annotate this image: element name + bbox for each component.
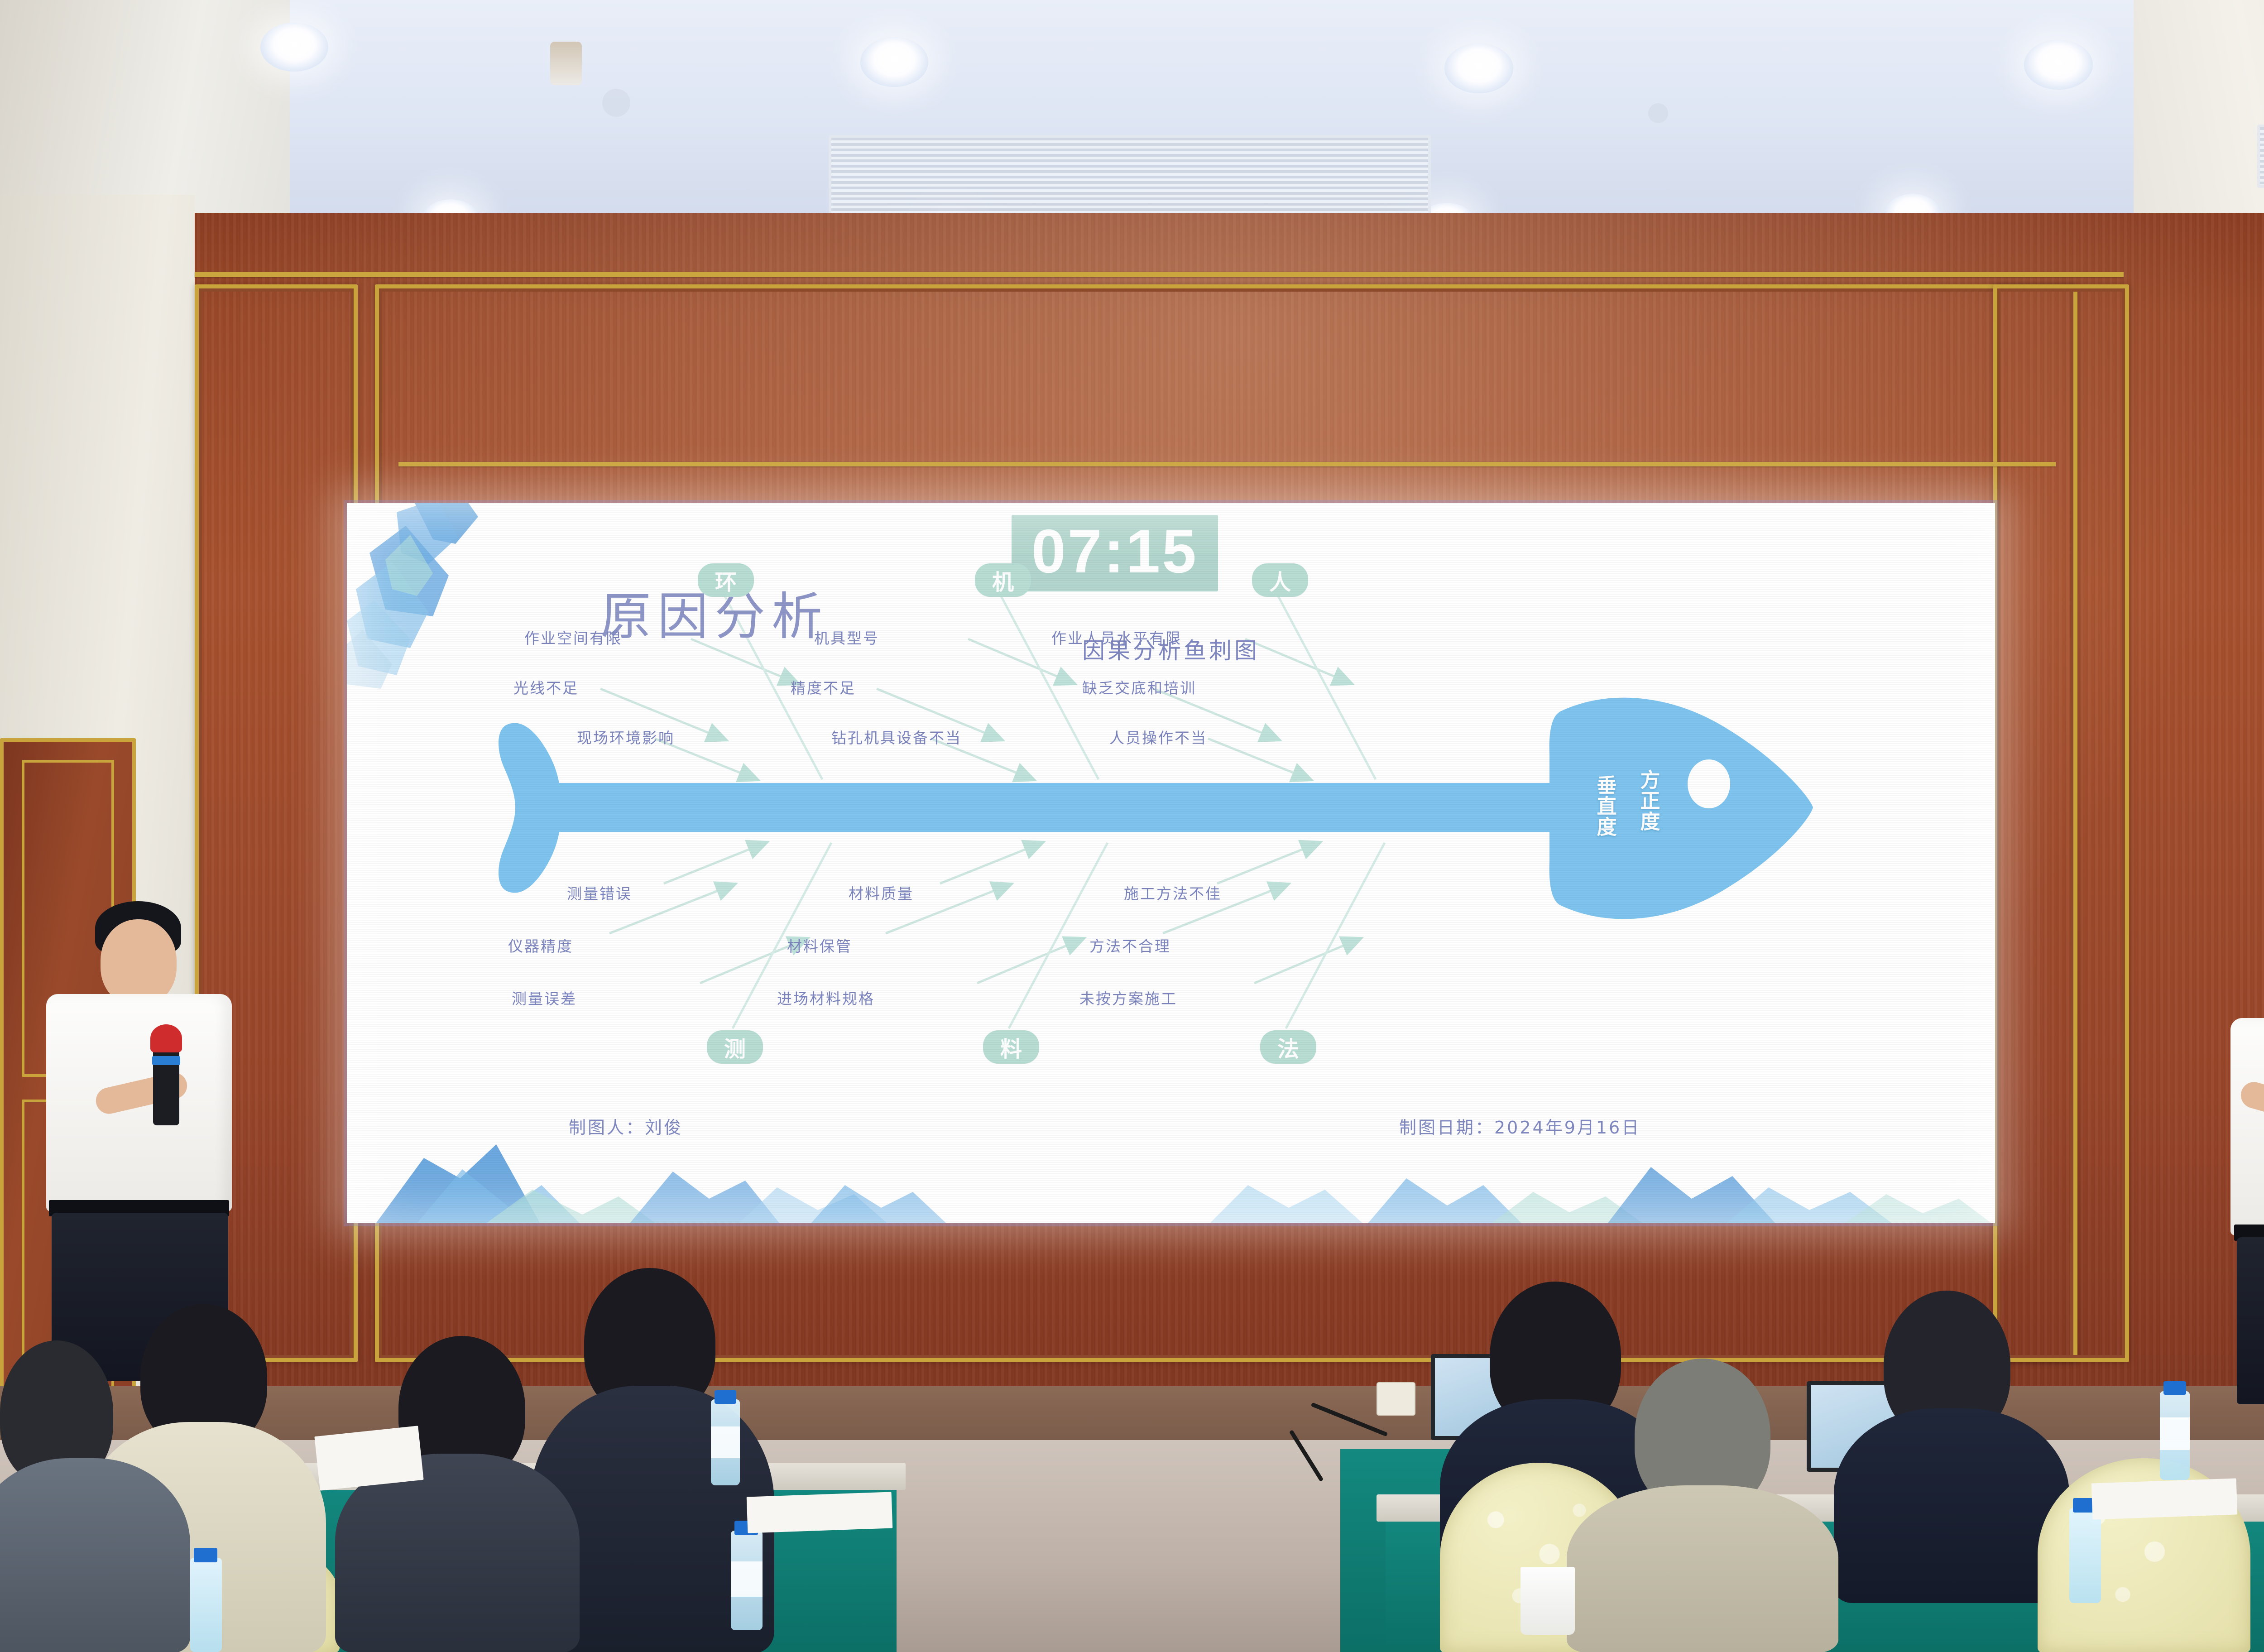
presenter-right [2214, 924, 2264, 1404]
gold-wall-frame [1993, 284, 2129, 1362]
bottle-cap [2163, 1381, 2186, 1395]
audience-body [0, 1458, 190, 1652]
effect-word-squareness: 方正度 [1637, 769, 1659, 832]
document-sheet[interactable] [2091, 1478, 2238, 1519]
downlight-icon [2024, 40, 2093, 90]
bottle-label [731, 1561, 763, 1597]
bottle-cap [194, 1548, 217, 1562]
cause-label: 人员操作不当 [1109, 726, 1207, 748]
category-pill-liao[interactable]: 料 [983, 1030, 1039, 1064]
category-label: 测 [724, 1031, 746, 1063]
cause-label: 方法不合理 [1089, 934, 1171, 956]
audience-body [1567, 1485, 1838, 1652]
wall-socket [1377, 1382, 1415, 1416]
cause-label: 作业人员水平有限 [1051, 626, 1182, 648]
ceiling-speaker-icon [602, 89, 630, 117]
slide-canvas: 原因分析 07:15 因果分析鱼刺图 [347, 503, 1995, 1223]
countdown-timer[interactable]: 07:15 [1012, 515, 1218, 591]
microphone-head-icon [150, 1024, 182, 1052]
ceiling-vent [2257, 125, 2264, 188]
microphone-band [152, 1056, 180, 1065]
bottle-label [711, 1426, 740, 1458]
cause-label: 现场环境影响 [577, 726, 675, 748]
cause-label: 钻孔机具设备不当 [831, 726, 962, 748]
category-pill-huan[interactable]: 环 [698, 563, 754, 597]
water-bottle[interactable] [190, 1558, 222, 1652]
bottle-cap [715, 1390, 736, 1404]
conference-room-photo: 原因分析 07:15 因果分析鱼刺图 [0, 0, 2264, 1652]
cause-label: 进场材料规格 [777, 987, 875, 1008]
cause-label: 光线不足 [513, 676, 579, 698]
bottle-label [2160, 1417, 2190, 1450]
paper-cup[interactable] [1521, 1567, 1575, 1635]
category-label: 环 [715, 564, 737, 596]
pants [2237, 1237, 2264, 1404]
cause-label: 材料质量 [849, 882, 914, 903]
fish-tail [499, 723, 560, 893]
projection-screen[interactable]: 原因分析 07:15 因果分析鱼刺图 [347, 503, 1995, 1223]
cause-label: 未按方案施工 [1079, 987, 1177, 1008]
footer-author: 制图人：刘俊 [569, 1114, 683, 1138]
cause-label: 作业空间有限 [524, 626, 622, 648]
fish-spine [552, 783, 1575, 832]
gold-trim [398, 462, 2056, 466]
water-bottle[interactable] [2069, 1508, 2101, 1603]
cause-label: 缺乏交底和培训 [1082, 676, 1196, 698]
category-pill-fa[interactable]: 法 [1260, 1030, 1316, 1064]
category-label: 法 [1277, 1031, 1299, 1063]
cause-label: 精度不足 [791, 676, 856, 698]
footer-date: 制图日期：2024年9月16日 [1399, 1114, 1640, 1138]
cause-label: 测量误差 [512, 987, 577, 1008]
fish-head [1549, 698, 1813, 919]
category-label: 料 [1000, 1031, 1022, 1063]
category-pill-ji[interactable]: 机 [975, 563, 1031, 597]
downlight-icon [860, 37, 928, 87]
category-pill-ce[interactable]: 测 [707, 1030, 763, 1064]
cause-label: 测量错误 [567, 882, 632, 903]
category-label: 人 [1269, 564, 1291, 596]
document-sheet[interactable] [747, 1492, 893, 1533]
category-pill-ren[interactable]: 人 [1252, 563, 1308, 597]
smoke-detector-icon [550, 42, 582, 85]
gold-trim [195, 272, 2124, 277]
ceiling-sensor-icon [1648, 103, 1668, 123]
downlight-icon [1444, 43, 1513, 93]
cause-label: 机具型号 [814, 626, 879, 648]
cause-label: 施工方法不佳 [1124, 882, 1222, 903]
head [101, 919, 177, 1005]
cause-label: 仪器精度 [508, 934, 573, 956]
audience-body [1834, 1408, 2069, 1603]
document-sheet[interactable] [314, 1426, 423, 1490]
cause-label: 材料保管 [787, 934, 852, 956]
shirt [2230, 1018, 2264, 1235]
downlight-icon [260, 23, 328, 72]
timer-value: 07:15 [1031, 522, 1198, 581]
effect-word-verticality: 垂直度 [1594, 775, 1616, 837]
fish-eye [1688, 759, 1730, 808]
category-label: 机 [992, 564, 1014, 596]
